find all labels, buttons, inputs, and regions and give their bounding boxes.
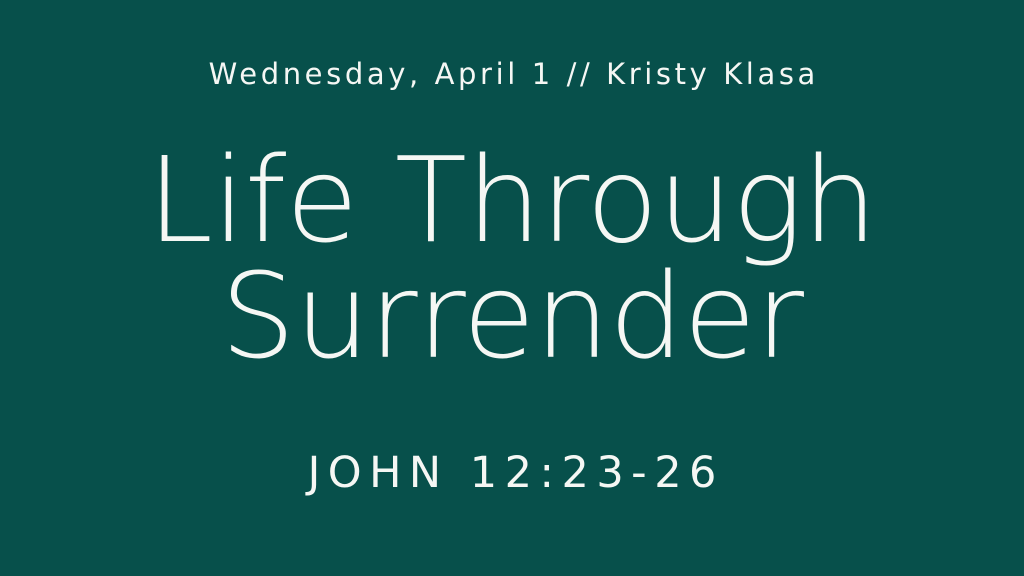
slide-subtitle: Wednesday, April 1 // Kristy Klasa xyxy=(0,55,1024,93)
slide-title: Life Through Surrender xyxy=(0,142,1024,374)
scripture-reference: JOHN 12:23-26 xyxy=(0,447,1024,499)
slide-title-line-2: Surrender xyxy=(0,258,1024,374)
sermon-title-slide: Wednesday, April 1 // Kristy Klasa Life … xyxy=(0,0,1024,576)
slide-title-line-1: Life Through xyxy=(0,142,1024,258)
